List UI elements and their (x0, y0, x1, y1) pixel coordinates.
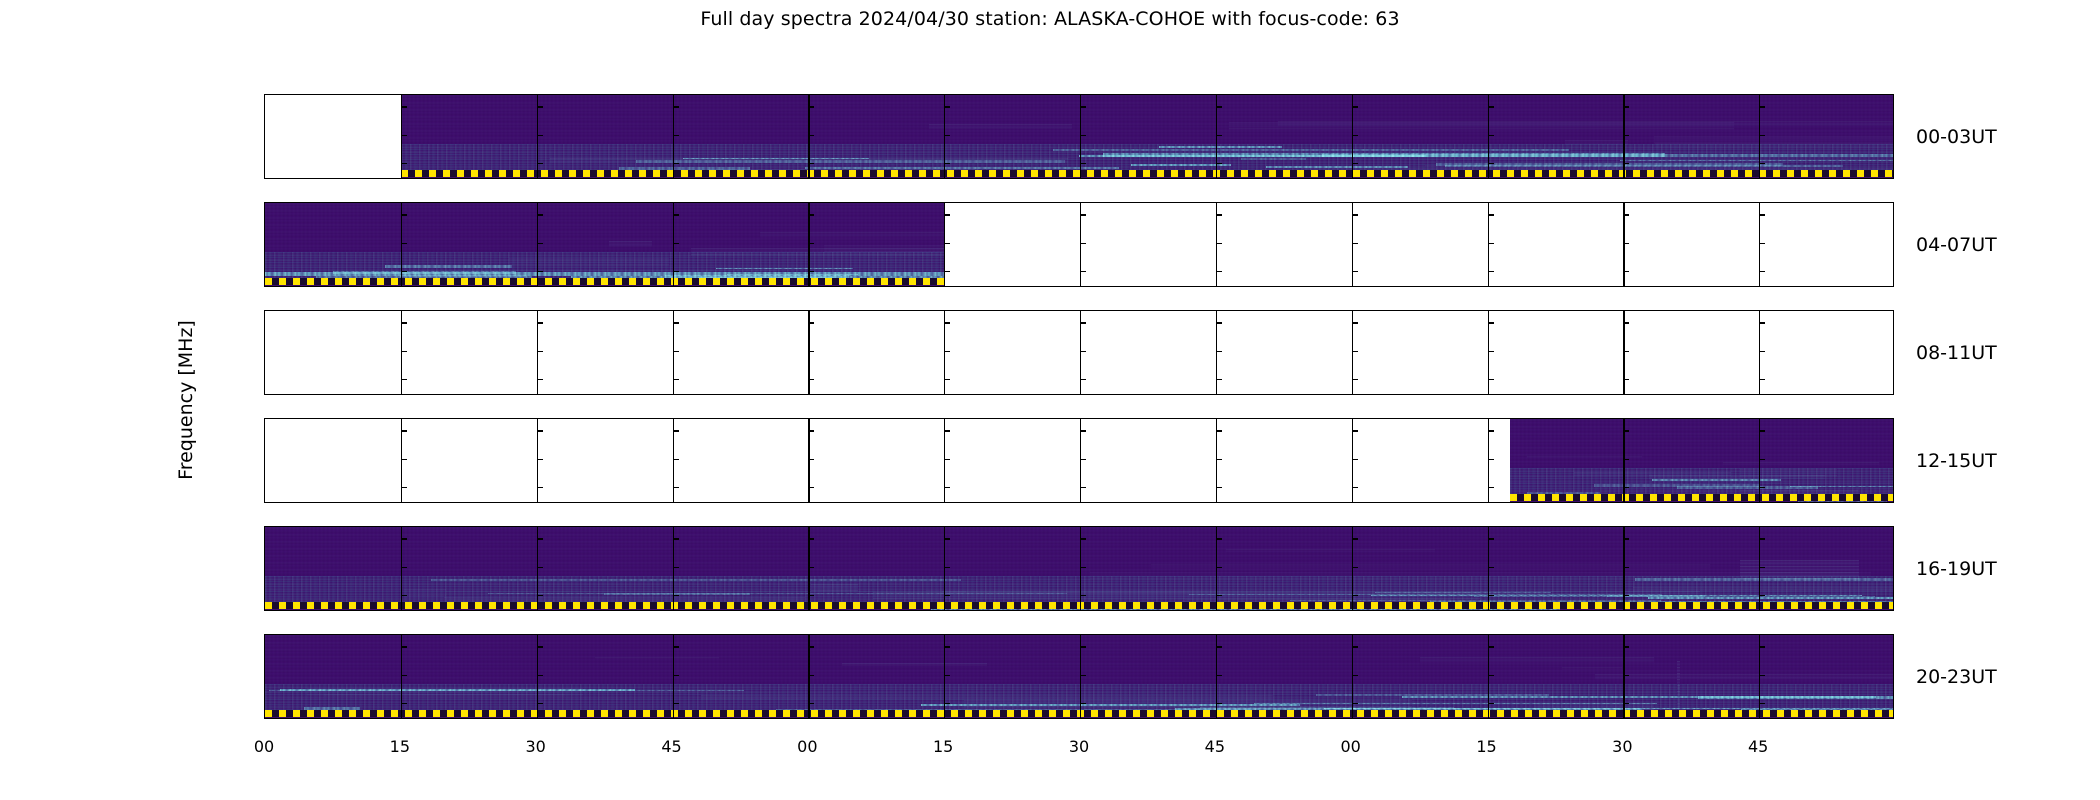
x-tick-mark (401, 718, 402, 719)
y-tick-mark (264, 271, 265, 272)
y-tick-mark-interior (1352, 703, 1358, 704)
y-tick-mark-interior (1759, 567, 1765, 568)
y-tick-mark-interior (808, 322, 814, 323)
y-tick-mark-interior (537, 595, 543, 596)
y-tick-mark-interior (1080, 567, 1086, 568)
y-tick-mark-interior (1080, 646, 1086, 647)
y-tick-mark-interior (1759, 459, 1765, 460)
y-tick-mark-interior (401, 135, 407, 136)
y-tick-mark-interior (944, 538, 950, 539)
y-tick-mark-interior (673, 487, 679, 488)
y-tick-mark-interior (1623, 135, 1629, 136)
y-tick-mark-interior (1623, 271, 1629, 272)
y-tick-mark-interior (1759, 106, 1765, 107)
y-tick-mark-interior (1216, 322, 1222, 323)
y-tick-mark-interior (1759, 675, 1765, 676)
faint-emission-patch (811, 584, 858, 591)
y-tick-mark-interior (1216, 135, 1222, 136)
y-tick-mark-interior (1216, 163, 1222, 164)
y-tick-mark-interior (1080, 459, 1086, 460)
row-label-00-03ut: 00-03UT (1916, 126, 1997, 148)
y-tick-mark-interior (1488, 459, 1494, 460)
y-tick-mark-interior (1488, 538, 1494, 539)
y-tick-mark-interior (1623, 163, 1629, 164)
row-axes-20-23ut (264, 634, 1894, 719)
y-tick-mark-interior (401, 595, 407, 596)
y-tick-mark-interior (1080, 538, 1086, 539)
spectrogram-row: 20-23UT (264, 634, 1894, 719)
y-tick-mark (264, 214, 265, 215)
row-label-20-23ut: 20-23UT (1916, 666, 1997, 688)
y-tick-mark-interior (401, 163, 407, 164)
faint-emission-patch (929, 124, 1072, 129)
y-tick-mark-interior (944, 567, 950, 568)
y-tick-mark-interior (1623, 675, 1629, 676)
y-tick-mark-interior (1352, 351, 1358, 352)
spectrogram-figure: Full day spectra 2024/04/30 station: ALA… (0, 0, 2100, 800)
y-tick-mark-interior (537, 214, 543, 215)
faint-emission-patch (404, 589, 447, 598)
y-tick-mark-interior (537, 271, 543, 272)
y-tick-mark-interior (537, 322, 543, 323)
y-tick-mark-interior (1488, 163, 1494, 164)
y-tick-mark-interior (808, 430, 814, 431)
faint-emission-patch (1229, 122, 1733, 130)
y-tick-mark-interior (944, 163, 950, 164)
faint-emission-patch (873, 592, 1480, 600)
y-tick-mark-interior (1352, 106, 1358, 107)
row-axes-00-03ut (264, 94, 1894, 179)
y-tick-mark-interior (401, 214, 407, 215)
y-tick-mark-interior (944, 351, 950, 352)
faint-emission-patch (1226, 549, 1435, 552)
emission-streak (1053, 149, 1569, 151)
y-tick-mark-interior (401, 646, 407, 647)
y-tick-mark (264, 538, 265, 539)
x-tick-label: 00 (797, 737, 817, 756)
y-tick-mark-interior (1759, 271, 1765, 272)
y-tick-mark-interior (808, 459, 814, 460)
y-tick-mark-interior (808, 351, 814, 352)
y-tick-mark-interior (401, 538, 407, 539)
y-tick-mark-interior (1759, 243, 1765, 244)
y-tick-mark-interior (401, 703, 407, 704)
y-tick-mark-interior (944, 675, 950, 676)
x-tick-mark (1488, 718, 1489, 719)
y-tick-mark-interior (673, 595, 679, 596)
y-tick-mark-interior (808, 163, 814, 164)
row-axes-12-15ut (264, 418, 1894, 503)
x-tick-mark (808, 718, 809, 719)
y-tick-mark-interior (401, 430, 407, 431)
y-tick-mark (264, 106, 265, 107)
y-tick-mark-interior (1080, 595, 1086, 596)
y-tick-mark-interior (944, 214, 950, 215)
y-tick-mark-interior (537, 567, 543, 568)
emission-streak (385, 265, 513, 268)
y-tick-mark-interior (944, 703, 950, 704)
y-tick-mark-interior (1488, 567, 1494, 568)
y-tick-mark-interior (1216, 243, 1222, 244)
radio-burst-block (1740, 560, 1859, 580)
x-tick-label: 00 (254, 737, 274, 756)
y-tick-mark-interior (673, 135, 679, 136)
y-tick-mark-interior (1216, 487, 1222, 488)
y-tick-mark-interior (944, 106, 950, 107)
y-tick-mark-interior (1488, 322, 1494, 323)
spectrogram-row: 12-15UT (264, 418, 1894, 503)
y-tick-mark-interior (1759, 322, 1765, 323)
y-tick-mark-interior (1216, 538, 1222, 539)
y-tick-mark-interior (1352, 271, 1358, 272)
vertical-spike (1677, 661, 1680, 709)
x-tick-label: 00 (1340, 737, 1360, 756)
y-tick-mark-interior (673, 430, 679, 431)
y-tick-mark-interior (537, 351, 543, 352)
y-tick-mark-interior (1488, 106, 1494, 107)
y-tick-mark-interior (1216, 459, 1222, 460)
marker-dashed-line (265, 278, 944, 285)
faint-emission-patch (1562, 667, 1622, 671)
y-tick-mark (264, 595, 265, 596)
y-tick-mark-interior (808, 646, 814, 647)
faint-emission-patch (701, 695, 1273, 701)
y-tick-mark-interior (808, 106, 814, 107)
x-tick-mark (1216, 718, 1217, 719)
y-tick-mark-interior (944, 271, 950, 272)
y-tick-mark-interior (1352, 243, 1358, 244)
y-tick-mark-interior (537, 163, 543, 164)
y-tick-mark-interior (1216, 106, 1222, 107)
y-tick-mark (264, 135, 265, 136)
y-tick-mark-interior (808, 135, 814, 136)
y-tick-mark-interior (1488, 271, 1494, 272)
spectrogram-data (1510, 419, 1894, 502)
y-tick-mark-interior (673, 703, 679, 704)
y-tick-mark-interior (1759, 646, 1765, 647)
y-tick-mark-interior (944, 487, 950, 488)
row-label-04-07ut: 04-07UT (1916, 234, 1997, 256)
y-tick-mark-interior (401, 322, 407, 323)
y-tick-mark (264, 703, 265, 704)
y-tick-mark-interior (1488, 379, 1494, 380)
emission-streak (1402, 696, 1876, 698)
y-tick-mark-interior (1352, 675, 1358, 676)
y-tick-mark-interior (1352, 538, 1358, 539)
y-tick-mark-interior (1216, 271, 1222, 272)
faint-emission-patch (1420, 657, 1655, 663)
row-axes-04-07ut (264, 202, 1894, 287)
y-tick-mark-interior (1080, 271, 1086, 272)
y-tick-mark-interior (1623, 538, 1629, 539)
y-tick-mark-interior (1352, 430, 1358, 431)
y-tick-mark-interior (1080, 214, 1086, 215)
y-tick-mark-interior (1216, 379, 1222, 380)
y-tick-mark-interior (1759, 351, 1765, 352)
y-tick-mark-interior (1623, 487, 1629, 488)
faint-emission-patch (595, 657, 719, 660)
y-tick-mark-interior (1352, 595, 1358, 596)
y-tick-mark-interior (673, 567, 679, 568)
y-tick-mark-interior (808, 675, 814, 676)
y-tick-mark-interior (1080, 135, 1086, 136)
row-axes-08-11ut (264, 310, 1894, 395)
y-tick-mark-interior (1352, 135, 1358, 136)
y-tick-mark (264, 459, 265, 460)
y-tick-mark (264, 430, 265, 431)
y-tick-mark-interior (537, 646, 543, 647)
y-tick-mark-interior (808, 379, 814, 380)
spectrogram-row: 00-03UT (264, 94, 1894, 179)
y-tick-mark-interior (1759, 487, 1765, 488)
y-tick-mark-interior (401, 459, 407, 460)
y-tick-mark-interior (1352, 163, 1358, 164)
y-tick-mark-interior (673, 322, 679, 323)
x-tick-label: 15 (390, 737, 410, 756)
marker-dashed-line (1510, 494, 1894, 501)
y-tick-mark-interior (1080, 106, 1086, 107)
y-tick-mark (264, 646, 265, 647)
y-tick-mark-interior (401, 567, 407, 568)
y-tick-mark-interior (1623, 322, 1629, 323)
y-tick-mark-interior (1623, 595, 1629, 596)
x-tick-label: 45 (1748, 737, 1768, 756)
page-title: Full day spectra 2024/04/30 station: ALA… (0, 8, 2100, 30)
faint-emission-patch (691, 248, 944, 256)
y-axis-label: Frequency [MHz] (175, 320, 197, 480)
y-tick-mark (264, 379, 265, 380)
y-tick-mark-interior (944, 430, 950, 431)
y-tick-mark-interior (944, 243, 950, 244)
faint-emission-patch (964, 700, 1411, 709)
y-tick-mark-interior (537, 135, 543, 136)
y-tick-mark-interior (673, 243, 679, 244)
faint-emission-patch (1654, 136, 1894, 144)
y-tick-mark-interior (1759, 538, 1765, 539)
faint-emission-patch (1595, 674, 1894, 680)
y-tick-mark-interior (401, 351, 407, 352)
y-tick-mark-interior (673, 106, 679, 107)
spectrogram-row: 04-07UT (264, 202, 1894, 287)
y-tick-mark-interior (1216, 595, 1222, 596)
y-tick-mark (264, 567, 265, 568)
faint-emission-patch (1574, 472, 1731, 476)
y-tick-mark-interior (1623, 351, 1629, 352)
marker-dashed-line (401, 170, 1894, 177)
y-tick-mark-interior (1352, 567, 1358, 568)
x-tick-label: 30 (1612, 737, 1632, 756)
emission-streak (1620, 160, 1894, 161)
y-tick-mark (264, 163, 265, 164)
x-tick-label: 45 (661, 737, 681, 756)
x-tick-mark (1759, 718, 1760, 719)
y-tick-mark-interior (808, 243, 814, 244)
y-tick-mark-interior (1216, 567, 1222, 568)
y-tick-mark-interior (537, 430, 543, 431)
emission-streak (1652, 479, 1781, 481)
y-tick-mark-interior (537, 459, 543, 460)
y-tick-mark-interior (1623, 106, 1629, 107)
faint-emission-patch (1565, 140, 1628, 146)
x-tick-mark (1352, 718, 1353, 719)
y-tick-mark-interior (1623, 243, 1629, 244)
y-tick-mark-interior (401, 106, 407, 107)
y-tick-mark-interior (1216, 214, 1222, 215)
y-tick-mark-interior (1623, 430, 1629, 431)
x-tick-label: 15 (1476, 737, 1496, 756)
y-tick-mark-interior (1623, 214, 1629, 215)
emission-streak (1103, 153, 1665, 156)
y-tick-mark-interior (673, 459, 679, 460)
y-tick-mark-interior (537, 675, 543, 676)
y-tick-mark-interior (1080, 379, 1086, 380)
y-tick-mark (264, 675, 265, 676)
y-tick-mark-interior (1623, 567, 1629, 568)
y-tick-mark-interior (1759, 163, 1765, 164)
y-tick-mark-interior (537, 379, 543, 380)
y-tick-mark (264, 351, 265, 352)
x-tick-label: 30 (1069, 737, 1089, 756)
y-tick-mark-interior (1759, 595, 1765, 596)
y-tick-mark-interior (808, 595, 814, 596)
faint-emission-patch (1633, 587, 1894, 593)
spectrogram-row: 08-11UT (264, 310, 1894, 395)
y-tick-mark-interior (808, 271, 814, 272)
y-tick-mark-interior (1352, 322, 1358, 323)
y-tick-mark-interior (401, 243, 407, 244)
x-tick-mark (1080, 718, 1081, 719)
y-tick-mark-interior (673, 214, 679, 215)
y-tick-mark-interior (673, 271, 679, 272)
y-tick-mark-interior (1488, 135, 1494, 136)
y-tick-mark-interior (537, 243, 543, 244)
y-tick-mark-interior (401, 271, 407, 272)
y-tick-mark-interior (537, 703, 543, 704)
y-tick-mark-interior (1623, 459, 1629, 460)
y-tick-mark-interior (1080, 703, 1086, 704)
y-tick-mark-interior (673, 351, 679, 352)
spectrogram-data (401, 95, 1894, 178)
faint-emission-patch (1723, 462, 1879, 466)
faint-emission-patch (509, 258, 669, 265)
row-axes-16-19ut (264, 526, 1894, 611)
y-tick-mark-interior (944, 646, 950, 647)
row-label-12-15ut: 12-15UT (1916, 450, 1997, 472)
y-tick-mark-interior (1759, 379, 1765, 380)
spectrogram-row: 16-19UT (264, 526, 1894, 611)
faint-emission-patch (842, 663, 987, 667)
y-tick-mark-interior (1352, 214, 1358, 215)
y-tick-mark-interior (1080, 351, 1086, 352)
y-tick-mark-interior (401, 487, 407, 488)
y-tick-mark-interior (944, 379, 950, 380)
emission-streak (1607, 595, 1705, 597)
y-tick-mark (264, 487, 265, 488)
y-tick-mark-interior (673, 646, 679, 647)
y-tick-mark-interior (401, 379, 407, 380)
x-tick-label: 45 (1205, 737, 1225, 756)
y-tick-mark-interior (1623, 703, 1629, 704)
y-tick-mark (264, 322, 265, 323)
y-tick-mark-interior (1216, 430, 1222, 431)
x-tick-mark (944, 718, 945, 719)
y-tick-mark-interior (1352, 646, 1358, 647)
spectrogram-data (265, 203, 944, 286)
x-tick-mark (265, 718, 266, 719)
y-tick-mark-interior (401, 675, 407, 676)
y-tick-mark-interior (1080, 163, 1086, 164)
y-tick-mark-interior (1488, 595, 1494, 596)
y-tick-mark-interior (1080, 243, 1086, 244)
y-tick-mark-interior (1488, 351, 1494, 352)
y-tick-mark-interior (944, 135, 950, 136)
y-tick-mark-interior (1488, 646, 1494, 647)
y-tick-mark-interior (808, 487, 814, 488)
y-tick-mark-interior (1759, 430, 1765, 431)
y-tick-mark-interior (1080, 487, 1086, 488)
y-tick-mark-interior (673, 675, 679, 676)
y-tick-mark-interior (808, 567, 814, 568)
y-tick-mark (264, 243, 265, 244)
y-tick-mark-interior (1488, 243, 1494, 244)
x-tick-label: 30 (525, 737, 545, 756)
y-tick-mark-interior (673, 379, 679, 380)
row-label-08-11ut: 08-11UT (1916, 342, 1997, 364)
y-tick-mark-interior (1216, 646, 1222, 647)
faint-emission-patch (324, 694, 565, 698)
y-tick-mark-interior (808, 703, 814, 704)
y-tick-mark-interior (944, 595, 950, 596)
faint-emission-patch (760, 232, 944, 237)
y-tick-mark-interior (673, 538, 679, 539)
y-tick-mark-interior (537, 487, 543, 488)
y-tick-mark-interior (673, 163, 679, 164)
y-tick-mark-interior (1488, 703, 1494, 704)
y-tick-mark-interior (944, 322, 950, 323)
y-tick-mark-interior (1216, 703, 1222, 704)
x-tick-mark (1623, 718, 1624, 719)
y-tick-mark-interior (537, 538, 543, 539)
faint-emission-patch (1425, 165, 1582, 167)
y-tick-mark-interior (1352, 459, 1358, 460)
y-tick-mark-interior (1623, 646, 1629, 647)
faint-emission-patch (609, 241, 652, 246)
y-tick-mark-interior (1080, 322, 1086, 323)
faint-emission-patch (1740, 469, 1836, 477)
y-tick-mark-interior (1488, 214, 1494, 215)
y-tick-mark-interior (808, 214, 814, 215)
x-tick-mark (537, 718, 538, 719)
y-tick-mark-interior (1080, 430, 1086, 431)
y-tick-mark-interior (1352, 487, 1358, 488)
y-tick-mark-interior (1759, 214, 1765, 215)
y-tick-mark-interior (1759, 135, 1765, 136)
y-tick-mark-interior (1352, 379, 1358, 380)
y-tick-mark-interior (1488, 487, 1494, 488)
y-tick-mark-interior (1759, 703, 1765, 704)
emission-streak (1159, 146, 1282, 148)
x-tick-label: 15 (933, 737, 953, 756)
y-tick-mark-interior (1216, 351, 1222, 352)
y-tick-mark-interior (1488, 675, 1494, 676)
x-tick-mark (673, 718, 674, 719)
y-tick-mark-interior (537, 106, 543, 107)
y-tick-mark-interior (1623, 379, 1629, 380)
y-tick-mark-interior (944, 459, 950, 460)
emission-streak (431, 579, 961, 581)
y-tick-mark-interior (1080, 675, 1086, 676)
y-tick-mark-interior (1216, 675, 1222, 676)
